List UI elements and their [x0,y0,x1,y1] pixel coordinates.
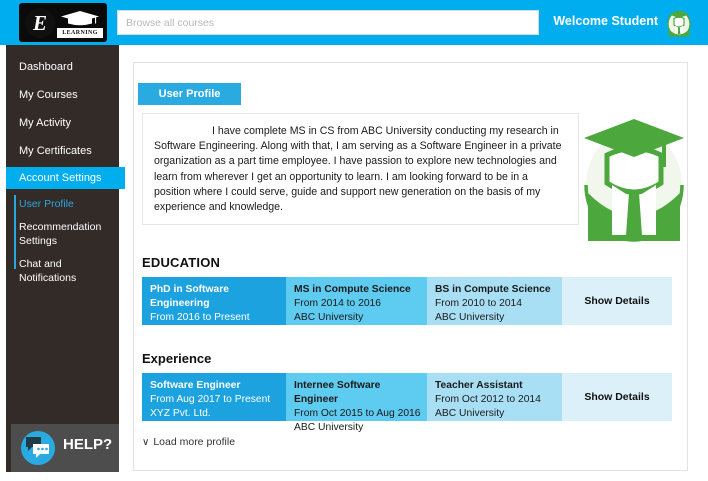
graduate-avatar-icon[interactable] [666,9,692,37]
help-button[interactable]: HELP? [11,424,119,472]
experience-card[interactable]: Internee Software Engineer From Oct 2015… [286,373,427,421]
education-card[interactable]: MS in Compute Science From 2014 to 2016 … [286,277,427,325]
elearning-page: E LEARNING Welcome Student Dashboard My … [0,0,708,481]
graduate-avatar-large-icon [574,111,694,246]
education-card-period: From 2016 to Present [150,311,286,325]
education-card-title: PhD in Software Engineering [150,283,286,311]
sidebar-item-my-courses[interactable]: My Courses [6,83,119,107]
experience-card[interactable]: Software Engineer From Aug 2017 to Prese… [142,373,286,421]
education-card-period: From 2010 to 2014 [435,297,562,311]
help-label: HELP? [63,436,112,453]
chat-bubbles-icon [25,436,51,460]
education-card-org: ABC University [150,325,286,339]
experience-show-details-button[interactable]: Show Details [562,373,672,421]
experience-card[interactable]: Teacher Assistant From Oct 2012 to 2014 … [427,373,562,421]
education-card-org: ABC University [435,311,562,325]
experience-card-title: Software Engineer [150,379,286,393]
logo-letter-e: E [25,8,55,38]
profile-bio: I have complete MS in CS from ABC Univer… [142,113,579,225]
experience-card-org: XYZ Pvt. Ltd. [150,407,286,421]
experience-card-org: ABC University [294,421,427,435]
site-logo[interactable]: E LEARNING [19,3,107,42]
bio-body: research in Software Engineering. Along … [154,125,562,213]
search-box[interactable] [117,10,539,35]
education-card[interactable]: PhD in Software Engineering From 2016 to… [142,277,286,325]
load-more-profile-button[interactable]: ∨Load more profile [142,436,235,448]
education-card-title: BS in Compute Science [435,283,562,297]
sidebar-item-my-activity[interactable]: My Activity [6,111,119,135]
tab-user-profile[interactable]: User Profile [138,83,241,105]
experience-card-period: From Oct 2015 to Aug 2016 [294,407,427,421]
experience-card-title: Internee Software Engineer [294,379,427,407]
sidebar-item-my-certificates[interactable]: My Certificates [6,139,119,163]
education-card-row: PhD in Software Engineering From 2016 to… [142,277,672,325]
education-card-title: MS in Compute Science [294,283,427,297]
experience-card-period: From Oct 2012 to 2014 [435,393,562,407]
experience-card-title: Teacher Assistant [435,379,562,393]
content-panel: User Profile I have complete MS in CS fr… [133,62,688,471]
sidebar-item-dashboard[interactable]: Dashboard [6,55,119,79]
logo-wordmark: LEARNING [57,28,103,38]
bio-first-line: I have complete MS in CS from ABC Univer… [154,125,503,137]
experience-card-org: ABC University [435,407,562,421]
education-card[interactable]: BS in Compute Science From 2010 to 2014 … [427,277,562,325]
education-show-details-button[interactable]: Show Details [562,277,672,325]
experience-card-period: From Aug 2017 to Present [150,393,286,407]
search-input[interactable] [118,11,538,34]
sidebar-item-account-settings[interactable]: Account Settings [6,167,125,189]
education-card-org: ABC University [294,311,427,325]
education-card-period: From 2014 to 2016 [294,297,427,311]
sidebar-subitem-user-profile[interactable]: User Profile [19,197,119,211]
top-header: E LEARNING Welcome Student [0,0,708,45]
experience-section-title: Experience [142,351,211,366]
graduation-cap-icon [60,10,100,26]
sidebar: Dashboard My Courses My Activity My Cert… [6,45,119,472]
experience-card-row: Software Engineer From Aug 2017 to Prese… [142,373,672,421]
education-section-title: EDUCATION [142,255,220,270]
sidebar-subitem-chat-and-notifications[interactable]: Chat and Notifications [19,257,119,285]
load-more-label: Load more profile [153,436,235,448]
sidebar-submenu: User Profile Recommendation Settings Cha… [6,197,119,285]
chevron-down-icon: ∨ [142,437,149,448]
sidebar-subitem-recommendation-settings[interactable]: Recommendation Settings [19,220,119,248]
welcome-label: Welcome Student [553,14,658,28]
